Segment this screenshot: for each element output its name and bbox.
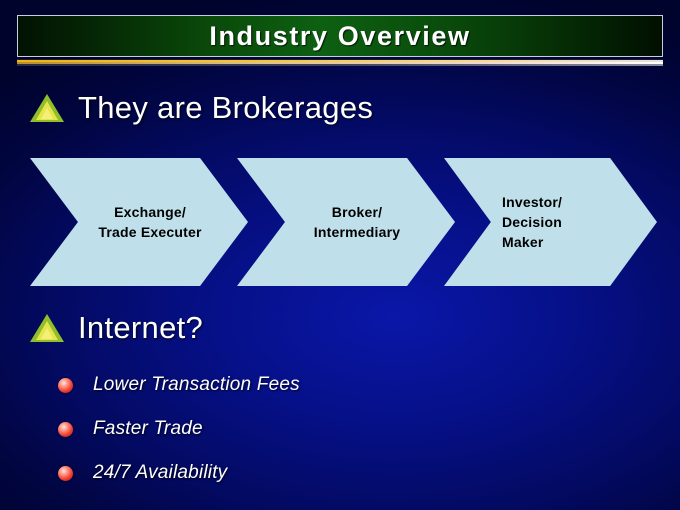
process-flow-diagram: Exchange/ Trade Executer Broker/ Interme… [0,158,680,286]
presentation-slide: Industry Overview They are Brokerages Ex… [0,0,680,510]
benefits-list: Lower Transaction Fees Faster Trade 24/7… [58,363,300,495]
process-step-line: Intermediary [259,225,455,239]
section-heading-internet: Internet? [30,310,203,346]
round-bullet-icon [58,466,73,481]
rule-line-shadow [17,64,663,66]
list-item: 24/7 Availability [58,451,300,495]
process-step-line: Maker [502,235,657,249]
section-heading-label: They are Brokerages [78,90,373,126]
process-step-exchange: Exchange/ Trade Executer [30,158,248,286]
process-step-label: Broker/ Intermediary [237,199,455,245]
process-step-investor: Investor/ Decision Maker [444,158,657,286]
list-item-label: 24/7 Availability [93,462,227,484]
list-item-label: Faster Trade [93,418,203,440]
section-heading-label: Internet? [78,310,203,346]
process-step-label: Exchange/ Trade Executer [30,199,248,245]
process-step-line: Decision [502,215,657,229]
list-item: Lower Transaction Fees [58,363,300,407]
round-bullet-icon [58,378,73,393]
list-item-label: Lower Transaction Fees [93,374,300,396]
page-title: Industry Overview [18,16,662,56]
process-step-line: Trade Executer [52,225,248,239]
process-step-broker: Broker/ Intermediary [237,158,455,286]
list-item: Faster Trade [58,407,300,451]
process-step-line: Exchange/ [52,205,248,219]
process-step-line: Broker/ [259,205,455,219]
round-bullet-icon [58,422,73,437]
triangle-bullet-icon [30,314,64,342]
title-bar-background: Industry Overview [17,15,663,57]
triangle-bullet-icon [30,94,64,122]
process-step-line: Investor/ [502,195,657,209]
process-step-label: Investor/ Decision Maker [444,189,657,255]
title-divider-rule [17,59,663,66]
section-heading-brokerages: They are Brokerages [30,90,373,126]
slide-title-bar: Industry Overview [17,15,663,57]
